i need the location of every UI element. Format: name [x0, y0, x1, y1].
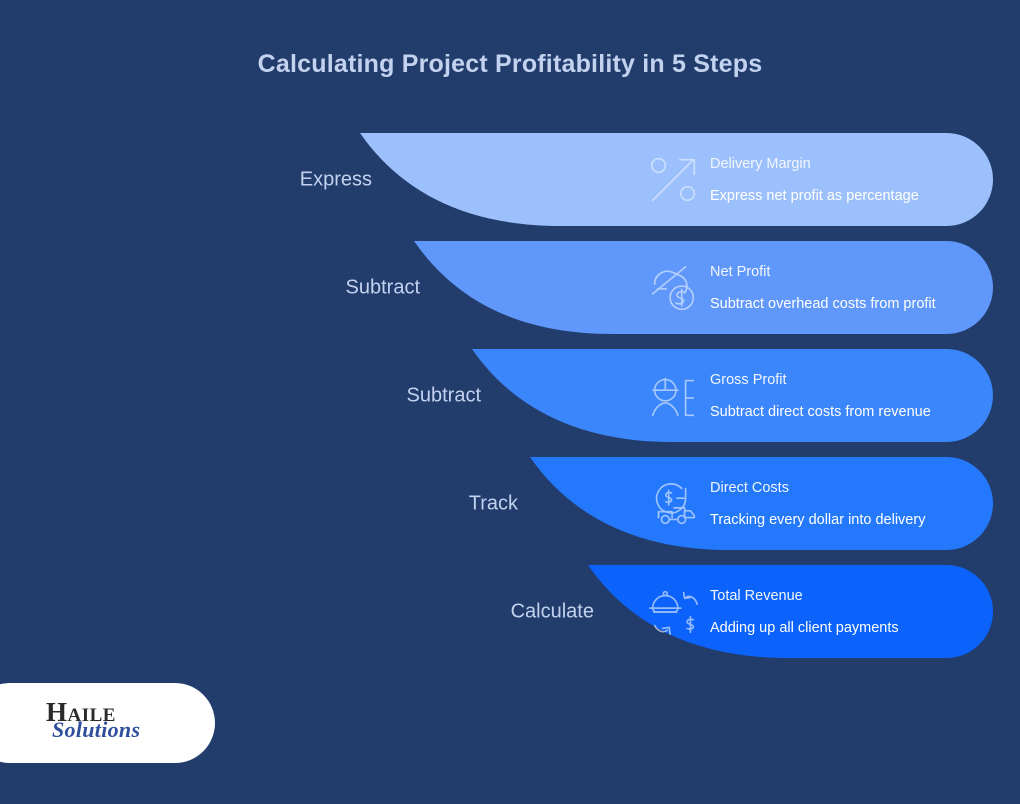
funnel-step-label: Track — [469, 493, 518, 516]
infographic-canvas: Calculating Project Profitability in 5 S… — [0, 0, 1020, 804]
percent-growth-icon — [645, 151, 703, 209]
funnel-band[interactable] — [414, 241, 993, 334]
funnel-band[interactable] — [530, 457, 993, 550]
worker-measure-icon — [645, 367, 703, 425]
logo-badge: Haile Solutions — [0, 683, 215, 763]
funnel-step-label: Subtract — [346, 277, 420, 300]
delivery-truck-dollar-icon — [645, 475, 703, 533]
logo-wordmark: Haile Solutions — [46, 693, 196, 753]
funnel-step-label: Calculate — [511, 601, 594, 624]
funnel-band[interactable] — [472, 349, 993, 442]
cloche-dollar-refresh-icon — [645, 583, 703, 641]
funnel-step-label: Express — [300, 169, 372, 192]
funnel-step-label: Subtract — [407, 385, 481, 408]
logo-secondary-text: Solutions — [52, 717, 140, 743]
discount-dollar-icon — [645, 259, 703, 317]
